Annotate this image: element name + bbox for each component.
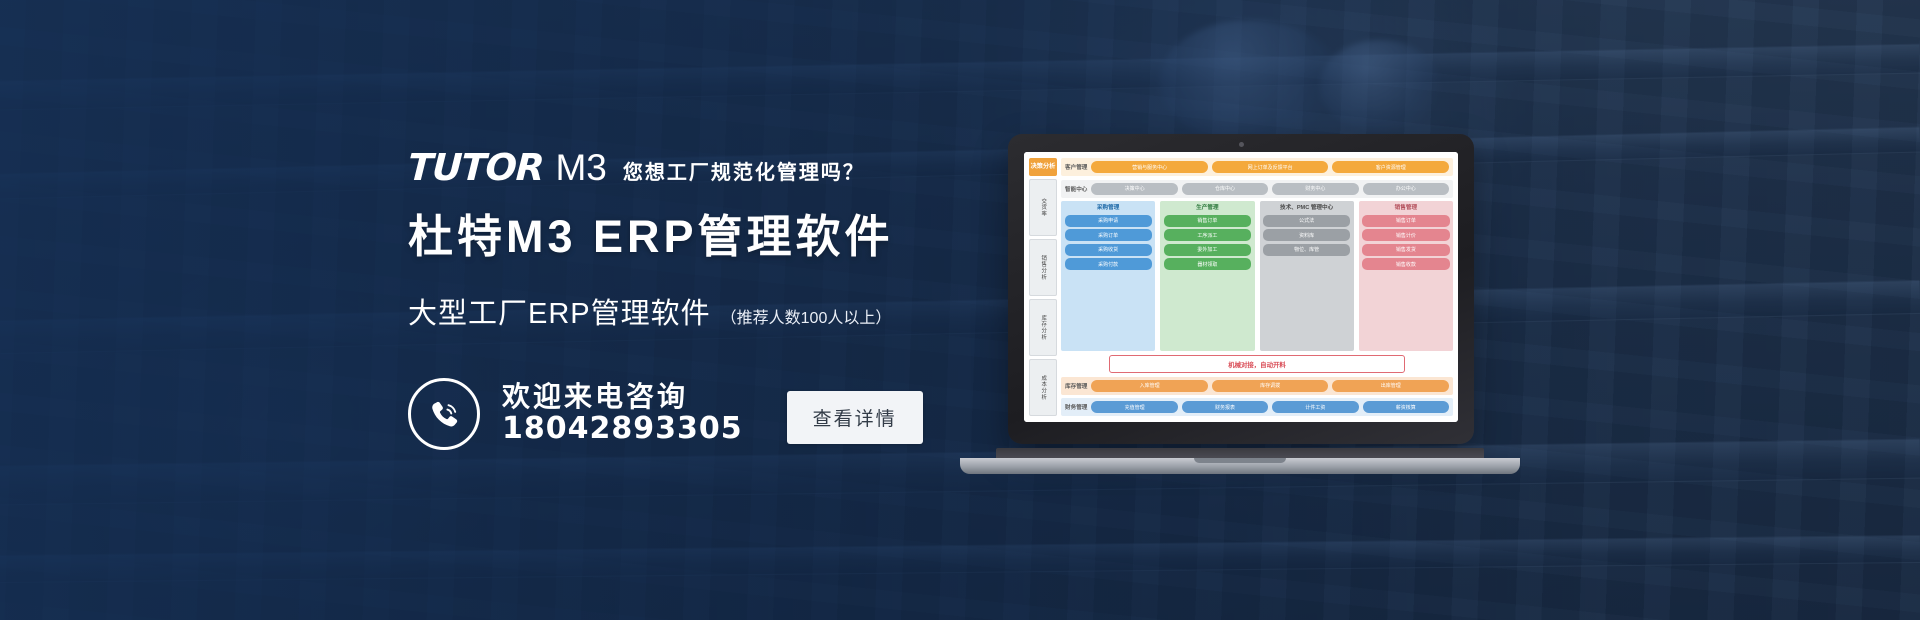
hero-kicker: 您想工厂规范化管理吗？ (623, 163, 865, 186)
erp-strip-finance: 财务管理 充值管理 财务报表 计件工资 薪资核算 (1061, 398, 1453, 416)
phone-icon (408, 378, 480, 450)
erp-column-item: 销售订单 (1164, 215, 1251, 227)
erp-main: 客户管理 营销与服务中心 网上订单及反馈平台 客户资源管理 智能中心 决策中心 … (1061, 158, 1453, 416)
erp-column-item: 采购订单 (1065, 229, 1152, 241)
erp-column-title: 销售管理 (1362, 205, 1449, 212)
erp-chip: 客户资源管理 (1332, 161, 1449, 173)
erp-chip: 薪资核算 (1363, 401, 1449, 413)
contact-phone-number: 18042893305 (502, 412, 743, 446)
erp-chip: 计件工资 (1272, 401, 1358, 413)
erp-chip: 财务报表 (1182, 401, 1268, 413)
erp-chip: 财务中心 (1272, 183, 1358, 195)
erp-chip: 仓库中心 (1182, 183, 1268, 195)
hero-subtitle-main: 大型工厂ERP管理软件 (408, 290, 711, 332)
erp-column-item: 器材领取 (1164, 258, 1251, 270)
erp-strip-smart-center: 智能中心 决策中心 仓库中心 财务中心 办公中心 (1061, 180, 1453, 198)
erp-strip-inventory: 库存管理 入库管理 库存调拨 出库管理 (1061, 377, 1453, 395)
erp-column-item: 委外加工 (1164, 244, 1251, 256)
erp-strip-label: 客户管理 (1065, 163, 1087, 171)
brand-logo-tutor: TUTOR (407, 149, 544, 186)
view-details-button[interactable]: 查看详情 (787, 391, 923, 444)
laptop-mockup: 决策分析 交货率 销售分析 库存分析 成本分析 客户管理 营销与服务中心 网上订… (960, 134, 1520, 474)
erp-chip: 网上订单及反馈平台 (1212, 161, 1329, 173)
erp-sidebar-head: 决策分析 (1029, 158, 1057, 176)
erp-column-purchasing: 采购管理 采购申请 采购订单 采购收货 采购付款 (1061, 201, 1155, 351)
erp-strip-label: 财务管理 (1065, 403, 1087, 411)
erp-column-item: 采购收货 (1065, 244, 1152, 256)
erp-column-item: 销售发货 (1362, 244, 1449, 256)
erp-chip: 库存调拨 (1212, 380, 1329, 392)
laptop-lid: 决策分析 交货率 销售分析 库存分析 成本分析 客户管理 营销与服务中心 网上订… (1008, 134, 1474, 444)
erp-sidebar-item: 销售分析 (1029, 239, 1057, 296)
erp-sidebar-item: 交货率 (1029, 179, 1057, 236)
erp-column-item: 工序派工 (1164, 229, 1251, 241)
erp-chip: 决策中心 (1091, 183, 1177, 195)
erp-column-title: 技术、PMC 管理中心 (1263, 205, 1350, 212)
laptop-hinge (996, 448, 1484, 458)
erp-column-item: 销售计价 (1362, 229, 1449, 241)
erp-column-title: 采购管理 (1065, 205, 1152, 212)
erp-sidebar: 决策分析 交货率 销售分析 库存分析 成本分析 (1029, 158, 1057, 416)
erp-chip: 营销与服务中心 (1091, 161, 1208, 173)
hero-banner: TUTOR M3 您想工厂规范化管理吗？ 杜特M3 ERP管理软件 大型工厂ER… (0, 0, 1920, 620)
erp-column-tech-pmc: 技术、PMC 管理中心 公式法 资料库 物位、库管 (1260, 201, 1354, 351)
erp-column-production: 生产管理 销售订单 工序派工 委外加工 器材领取 (1160, 201, 1254, 351)
erp-chip: 出库管理 (1332, 380, 1449, 392)
erp-column-item: 资料库 (1263, 229, 1350, 241)
brand-logo-m3: M3 (555, 149, 606, 186)
erp-chip: 入库管理 (1091, 380, 1208, 392)
erp-column-item: 物位、库管 (1263, 244, 1350, 256)
erp-column-title: 生产管理 (1164, 205, 1251, 212)
erp-strip-label: 库存管理 (1065, 382, 1087, 390)
erp-column-item: 采购申请 (1065, 215, 1152, 227)
erp-column-item: 销售收款 (1362, 258, 1449, 270)
erp-chip: 充值管理 (1091, 401, 1177, 413)
webcam-icon (1239, 142, 1244, 147)
erp-column-item: 销售订单 (1362, 215, 1449, 227)
erp-strip-label: 智能中心 (1065, 185, 1087, 193)
erp-column-item: 采购付款 (1065, 258, 1152, 270)
erp-sidebar-item: 库存分析 (1029, 299, 1057, 356)
erp-sidebar-item: 成本分析 (1029, 359, 1057, 416)
contact-text: 欢迎来电咨询 18042893305 (502, 381, 743, 446)
erp-column-item: 公式法 (1263, 215, 1350, 227)
erp-chip: 办公中心 (1363, 183, 1449, 195)
erp-highlight-note: 机械对接，自动开料 (1109, 355, 1405, 373)
erp-diagram: 决策分析 交货率 销售分析 库存分析 成本分析 客户管理 营销与服务中心 网上订… (1024, 152, 1458, 422)
hero-subtitle-note: （推荐人数100人以上） (721, 304, 892, 328)
laptop-base (960, 458, 1520, 474)
erp-strip-customer: 客户管理 营销与服务中心 网上订单及反馈平台 客户资源管理 (1061, 158, 1453, 176)
erp-columns: 采购管理 采购申请 采购订单 采购收货 采购付款 生产管理 销售订单 工序派工 … (1061, 201, 1453, 351)
contact-label: 欢迎来电咨询 (502, 381, 743, 412)
laptop-screen: 决策分析 交货率 销售分析 库存分析 成本分析 客户管理 营销与服务中心 网上订… (1024, 152, 1458, 422)
erp-column-sales: 销售管理 销售订单 销售计价 销售发货 销售收款 (1359, 201, 1453, 351)
